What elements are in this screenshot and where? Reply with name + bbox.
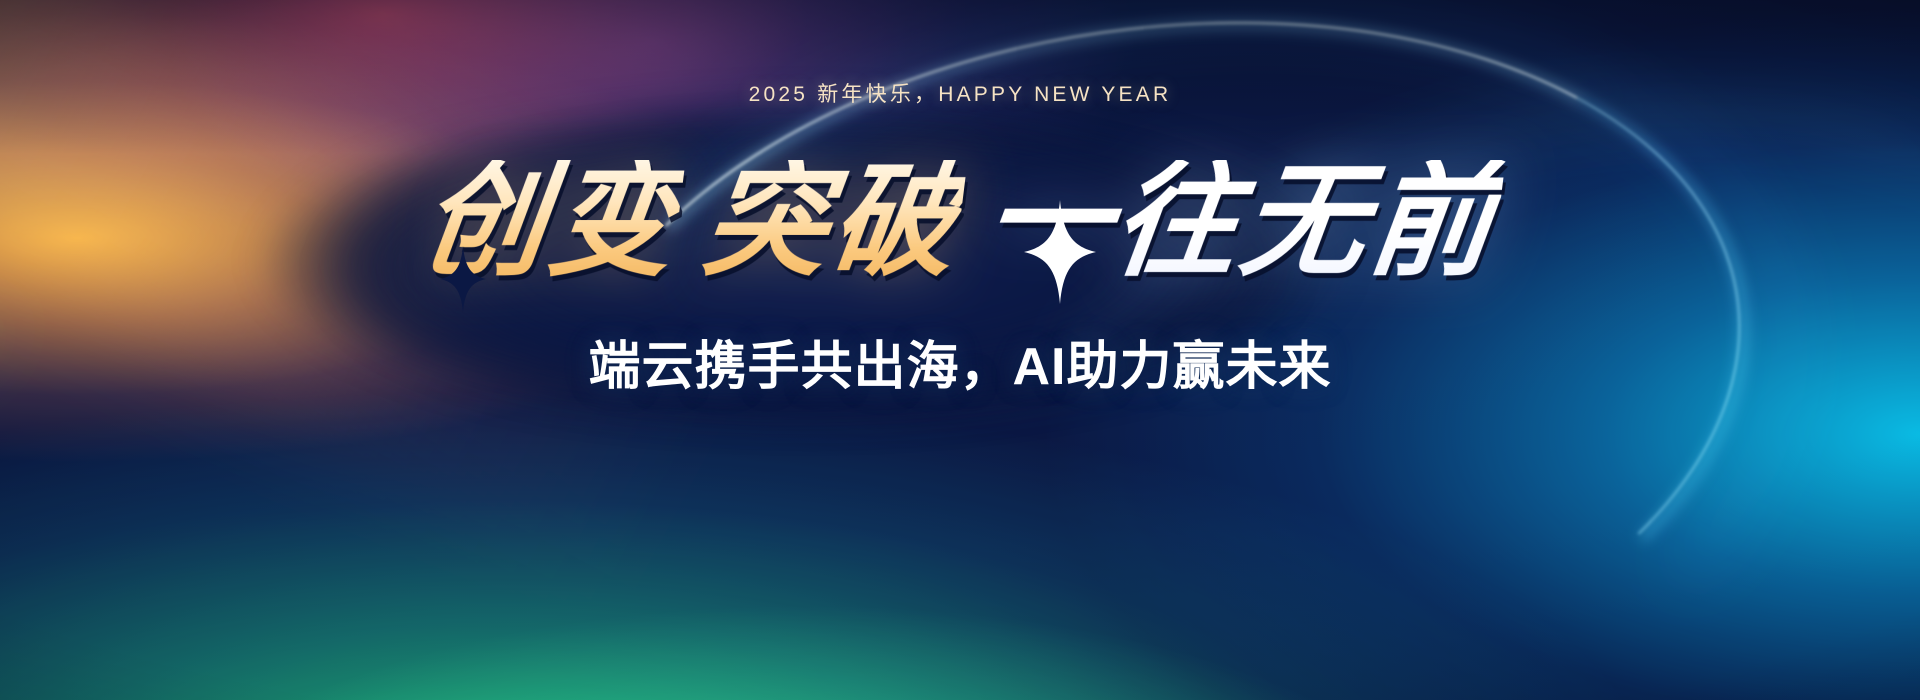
new-year-banner: 2025 新年快乐，HAPPY NEW YEAR 创变 突破 一往无前 端云携手… — [0, 0, 1920, 700]
headline-backdrop-ellipse-inner — [330, 130, 1290, 410]
